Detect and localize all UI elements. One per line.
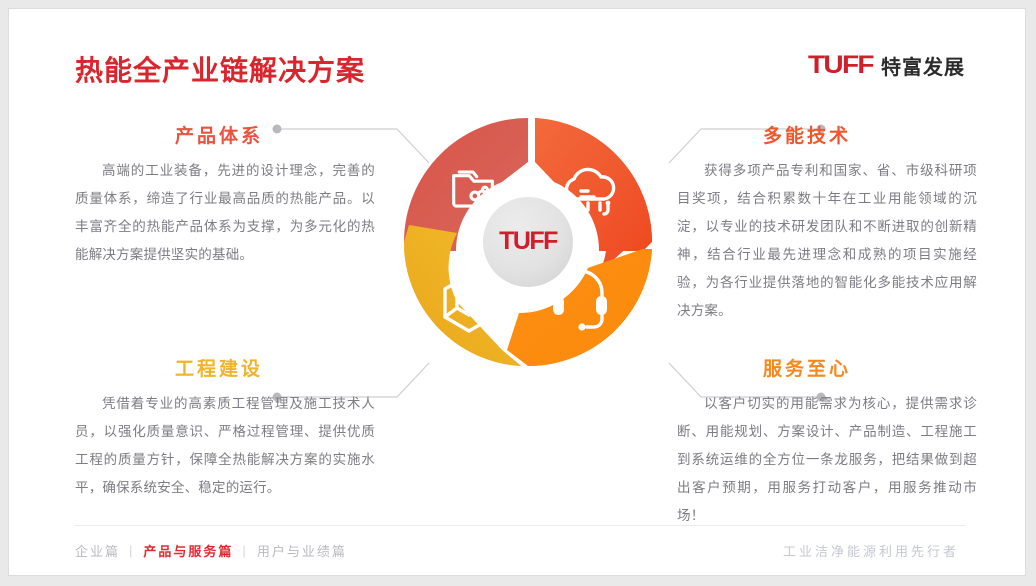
feature-block-service: 服务至心 以客户切实的用能需求为核心，提供需求诊断、用能规划、方案设计、产品制造… [677, 354, 977, 530]
footer-nav-item-0[interactable]: 企业篇 [75, 541, 120, 560]
brand-logo: TUFF 特富发展 [808, 51, 965, 80]
page-title: 热能全产业链解决方案 [75, 49, 365, 89]
slide-canvas: 热能全产业链解决方案 TUFF 特富发展 [8, 8, 1026, 576]
feature-block-product: 产品体系 高端的工业装备，先进的设计理念，完善的质量体系，缔造了行业最高品质的热… [75, 121, 375, 269]
feature-block-tech: 多能技术 获得多项产品专利和国家、省、市级科研项目奖项，结合积累数十年在工业用能… [677, 121, 977, 325]
feature-title-tech: 多能技术 [677, 121, 977, 148]
footer-nav-item-1[interactable]: 产品与服务篇 [143, 541, 233, 560]
feature-body-product: 高端的工业装备，先进的设计理念，完善的质量体系，缔造了行业最高品质的热能产品。以… [75, 157, 375, 269]
tuff-logo-mark: TUFF [808, 51, 873, 80]
footer-nav: 企业篇 | 产品与服务篇 | 用户与业绩篇 [75, 541, 347, 560]
feature-title-engineer: 工程建设 [75, 354, 375, 381]
footer-divider [75, 525, 965, 526]
hub-logo-text: TUFF [499, 227, 558, 255]
feature-title-service: 服务至心 [677, 354, 977, 381]
feature-body-tech: 获得多项产品专利和国家、省、市级科研项目奖项，结合积累数十年在工业用能领域的沉淀… [677, 157, 977, 325]
pinwheel-diagram: TUFF [399, 113, 657, 371]
feature-block-engineer: 工程建设 凭借着专业的高素质工程管理及施工技术人员，以强化质量意识、严格过程管理… [75, 354, 375, 502]
footer-nav-item-2[interactable]: 用户与业绩篇 [257, 541, 347, 560]
footer-separator-1: | [242, 543, 247, 558]
footer-separator-0: | [129, 543, 134, 558]
wheel-hub: TUFF [476, 190, 580, 294]
footer-tagline: 工业洁净能源利用先行者 [783, 541, 959, 560]
brand-name-label: 特富发展 [881, 51, 965, 80]
feature-body-service: 以客户切实的用能需求为核心，提供需求诊断、用能规划、方案设计、产品制造、工程施工… [677, 390, 977, 530]
feature-title-product: 产品体系 [75, 121, 375, 148]
feature-body-engineer: 凭借着专业的高素质工程管理及施工技术人员，以强化质量意识、严格过程管理、提供优质… [75, 390, 375, 502]
